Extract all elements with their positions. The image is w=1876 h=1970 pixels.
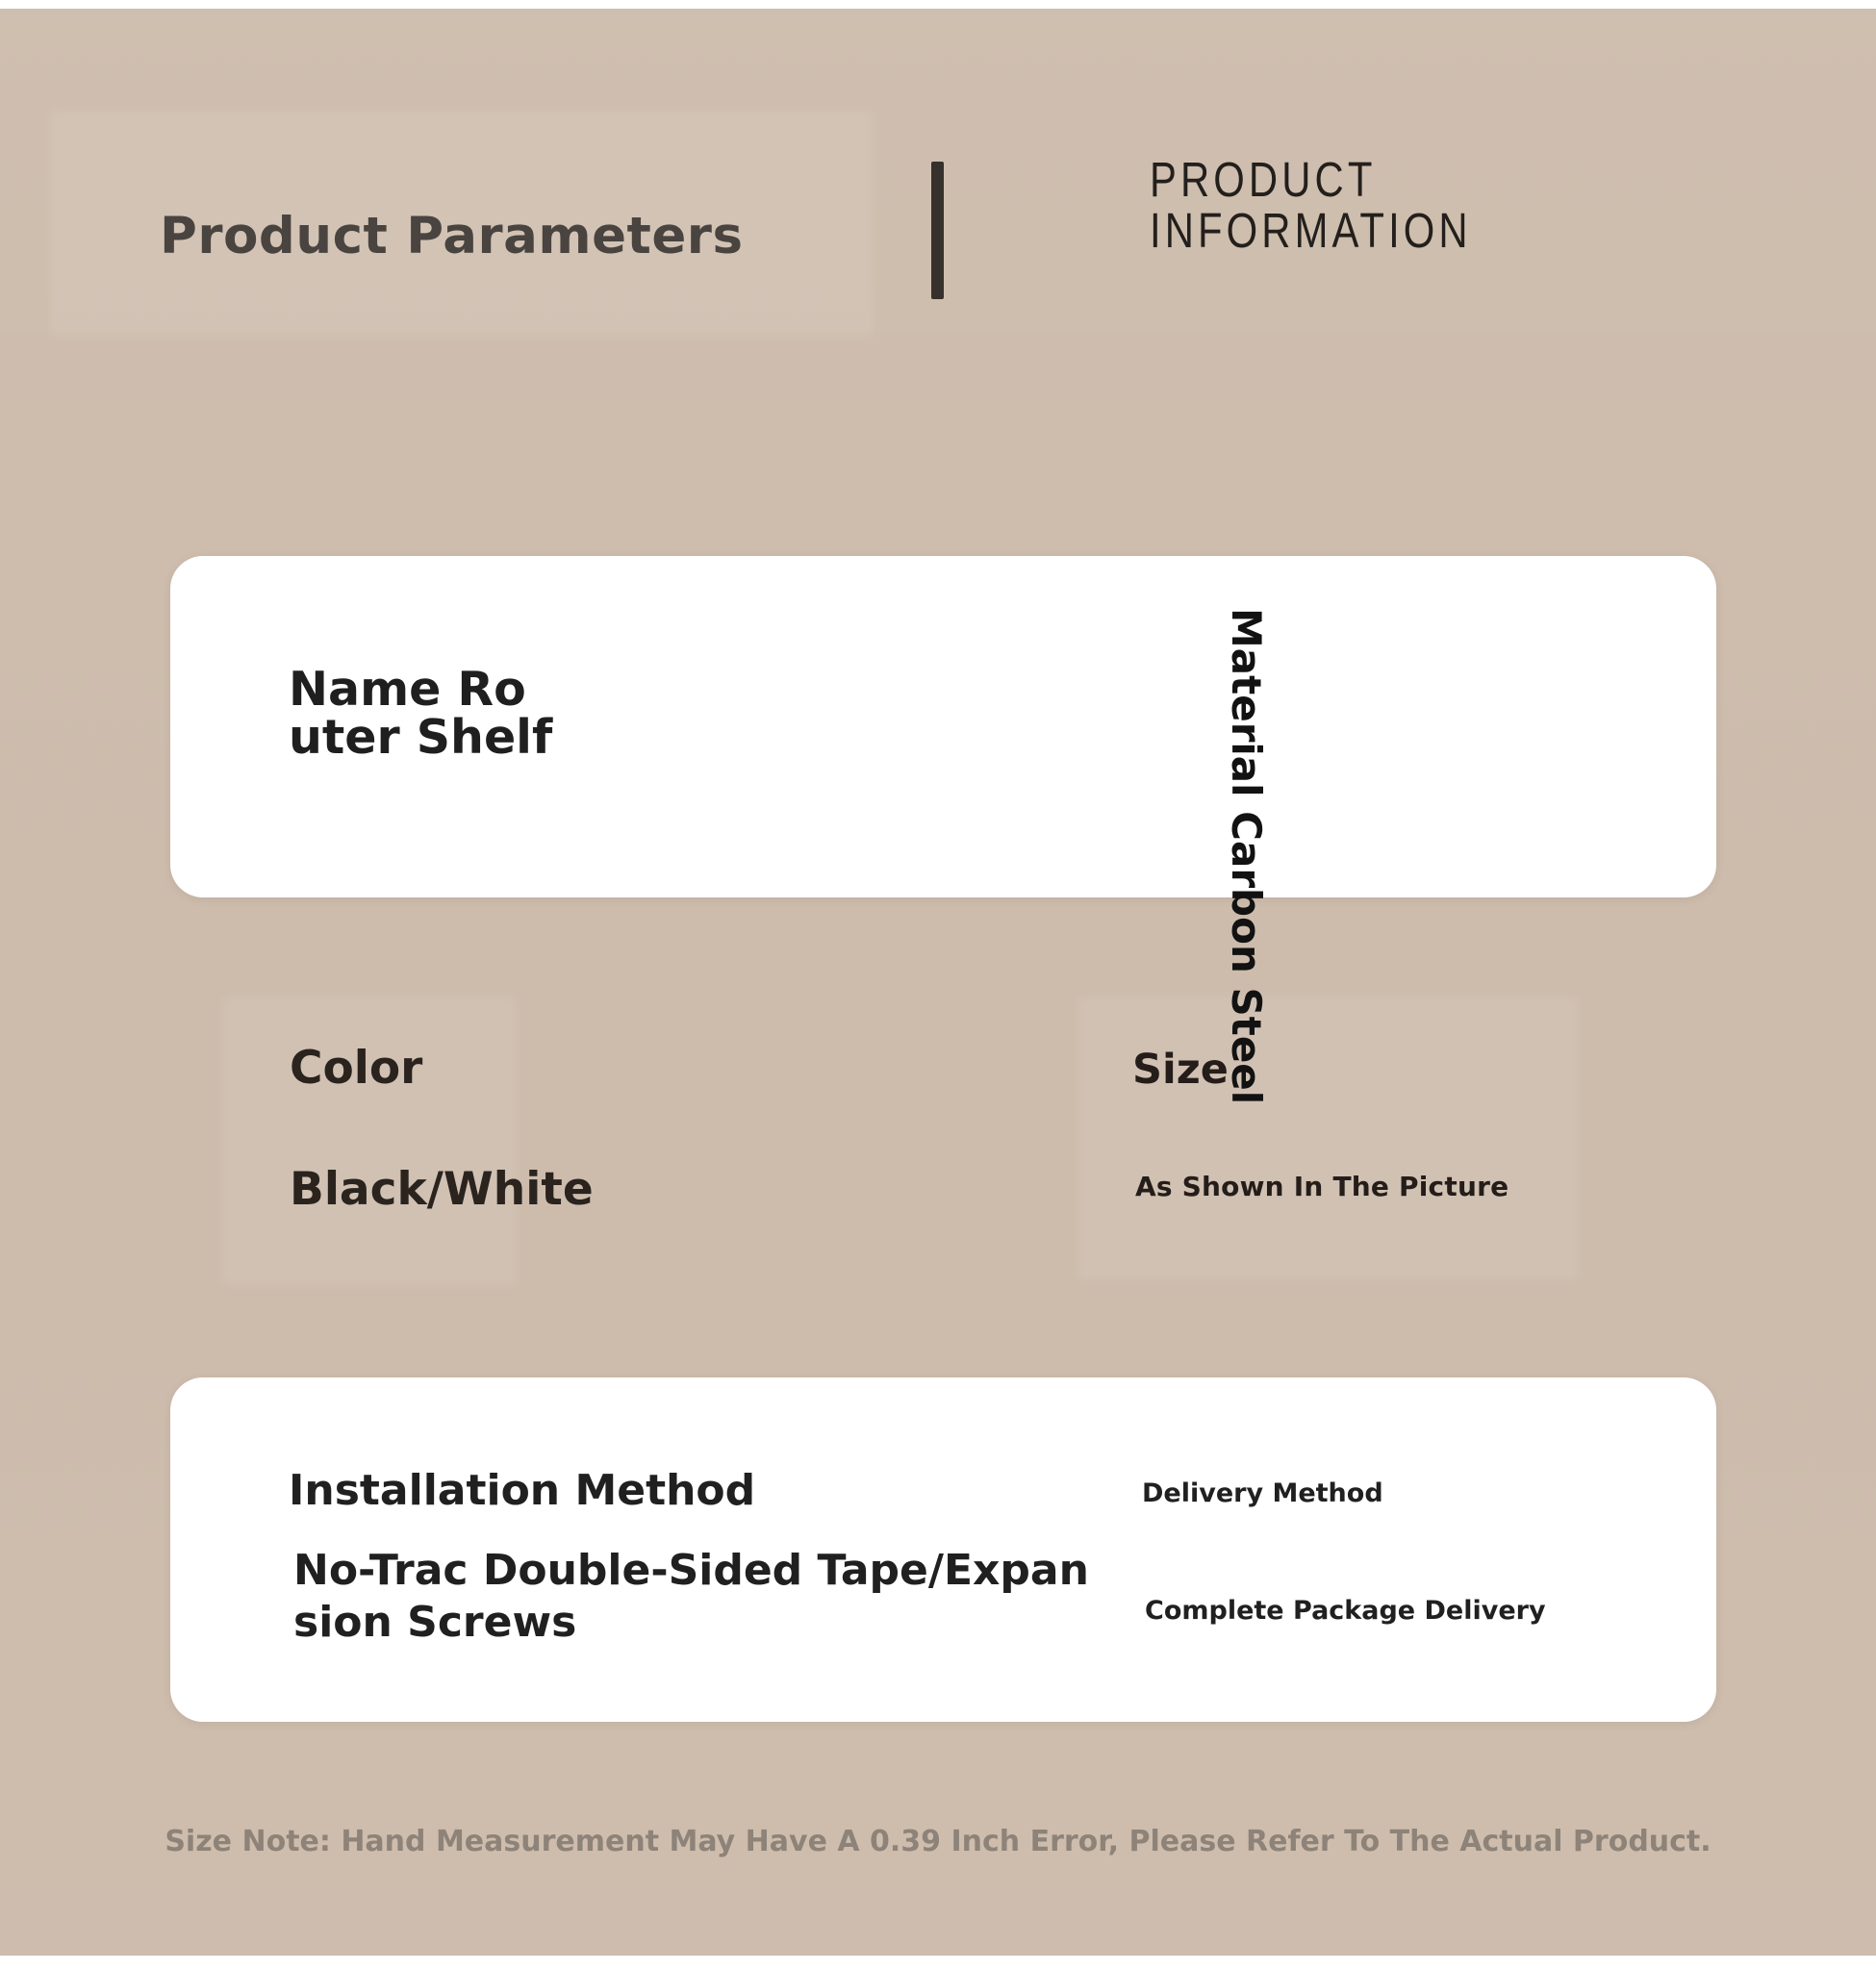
size-note: Size Note: Hand Measurement May Have A 0… bbox=[0, 1825, 1876, 1858]
header-divider-bar bbox=[931, 162, 944, 299]
spec-name-line1: Name Ro bbox=[289, 662, 526, 717]
spec-delivery-label: Delivery Method bbox=[1142, 1480, 1383, 1507]
spec-name-text: Name Ro uter Shelf bbox=[289, 666, 552, 762]
spec-delivery-value: Complete Package Delivery bbox=[1145, 1598, 1546, 1625]
page-title: Product Parameters bbox=[160, 207, 744, 265]
spec-color-value: Black/White bbox=[290, 1167, 594, 1213]
spec-name-line2: uter Shelf bbox=[289, 710, 552, 765]
spec-installation-line2: sion Screws bbox=[293, 1598, 576, 1647]
spec-installation-line1: No-Trac Double-Sided Tape/Expan bbox=[293, 1546, 1089, 1595]
spec-installation-value: No-Trac Double-Sided Tape/Expan sion Scr… bbox=[293, 1545, 1089, 1648]
spec-size-label: Size bbox=[1132, 1049, 1229, 1092]
product-information-page: Product Parameters PRODUCT INFORMATION N… bbox=[0, 0, 1876, 1970]
spec-material-text: Material Carbon Steel bbox=[1225, 608, 1266, 1104]
spec-color-label: Color bbox=[290, 1046, 422, 1092]
spec-size-value: As Shown In The Picture bbox=[1135, 1174, 1508, 1201]
spec-installation-label: Installation Method bbox=[289, 1470, 755, 1513]
